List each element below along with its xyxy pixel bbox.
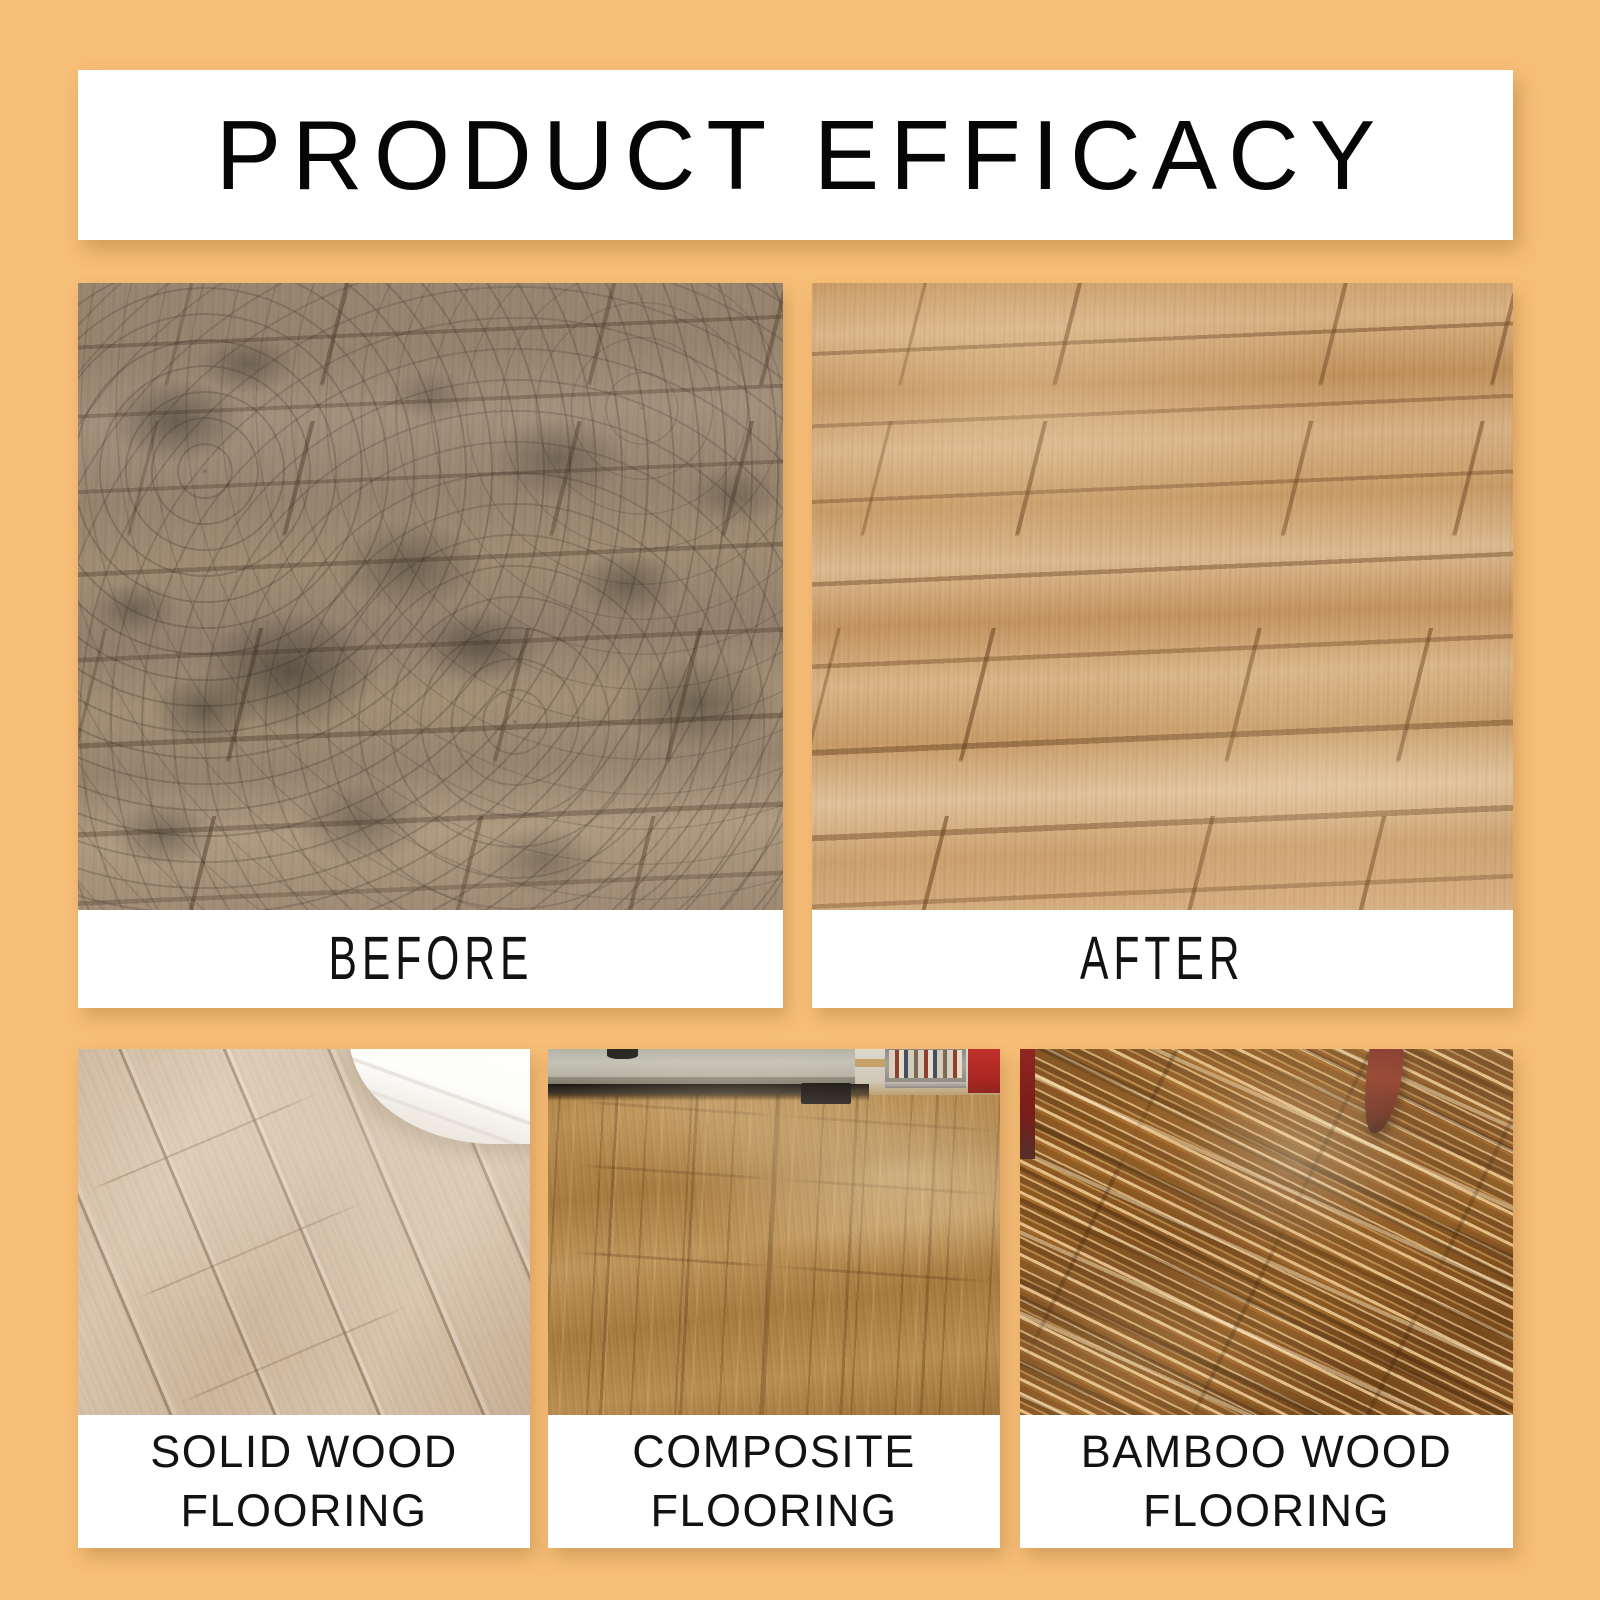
before-grey-haze bbox=[78, 283, 783, 910]
after-photo bbox=[812, 283, 1513, 910]
infographic-page: PRODUCT EFFICACY BEFORE AFTER bbox=[0, 0, 1600, 1600]
bamboo-label-line1: BAMBOO WOOD bbox=[1081, 1426, 1453, 1477]
after-card: AFTER bbox=[812, 283, 1513, 1008]
composite-label-line2: FLOORING bbox=[650, 1485, 897, 1536]
solid-wood-label-line1: SOLID WOOD bbox=[150, 1426, 458, 1477]
bamboo-label-line2: FLOORING bbox=[1143, 1485, 1390, 1536]
solid-light-pool bbox=[78, 1049, 530, 1415]
bamboo-photo bbox=[1020, 1049, 1513, 1415]
after-label: AFTER bbox=[1080, 924, 1244, 995]
solid-wood-card: SOLID WOOD FLOORING bbox=[78, 1049, 530, 1548]
after-sheen bbox=[812, 283, 1513, 910]
before-label: BEFORE bbox=[328, 924, 533, 995]
header-banner: PRODUCT EFFICACY bbox=[78, 70, 1513, 240]
bamboo-card: BAMBOO WOOD FLOORING bbox=[1020, 1049, 1513, 1548]
solid-wood-label: SOLID WOOD FLOORING bbox=[150, 1423, 458, 1540]
before-caption: BEFORE bbox=[78, 910, 783, 1008]
page-title: PRODUCT EFFICACY bbox=[205, 106, 1387, 204]
solid-wood-photo bbox=[78, 1049, 530, 1415]
bamboo-gloss bbox=[1020, 1049, 1513, 1415]
solid-wood-label-line2: FLOORING bbox=[180, 1485, 427, 1536]
composite-photo bbox=[548, 1049, 1000, 1415]
composite-label: COMPOSITE FLOORING bbox=[632, 1423, 916, 1540]
after-caption: AFTER bbox=[812, 910, 1513, 1008]
bamboo-label: BAMBOO WOOD FLOORING bbox=[1081, 1423, 1453, 1540]
before-card: BEFORE bbox=[78, 283, 783, 1008]
bamboo-caption: BAMBOO WOOD FLOORING bbox=[1020, 1415, 1513, 1548]
solid-wood-caption: SOLID WOOD FLOORING bbox=[78, 1415, 530, 1548]
composite-caption: COMPOSITE FLOORING bbox=[548, 1415, 1000, 1548]
composite-gloss bbox=[548, 1049, 1000, 1415]
composite-card: COMPOSITE FLOORING bbox=[548, 1049, 1000, 1548]
before-photo bbox=[78, 283, 783, 910]
composite-label-line1: COMPOSITE bbox=[632, 1426, 916, 1477]
